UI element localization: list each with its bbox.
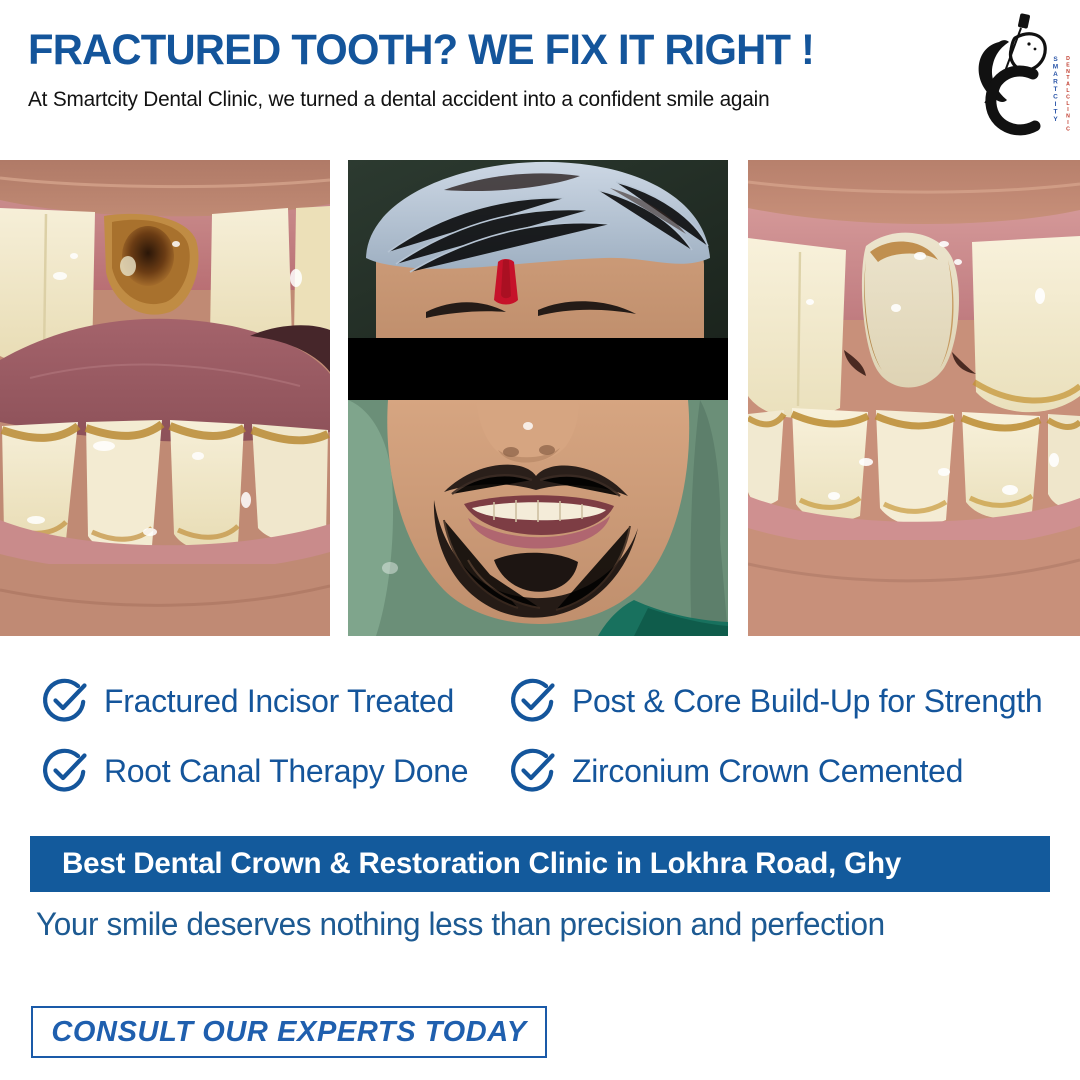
consult-cta-label: CONSULT OUR EXPERTS TODAY [51, 1016, 526, 1049]
logo-brand-subtext: DENTALCLINIC [1064, 56, 1071, 133]
checklist-item-label: Fractured Incisor Treated [104, 683, 454, 720]
treatment-checklist: Fractured Incisor Treated Root Canal The… [0, 660, 1080, 810]
checklist-item-label: Zirconium Crown Cemented [572, 753, 963, 790]
consult-cta-button[interactable]: CONSULT OUR EXPERTS TODAY [31, 1006, 547, 1058]
page-subtitle: At Smartcity Dental Clinic, we turned a … [28, 88, 769, 112]
photo-patient-portrait [348, 160, 728, 636]
location-banner: Best Dental Crown & Restoration Clinic i… [30, 836, 1050, 892]
check-circle-icon [40, 676, 90, 726]
logo-brand-text: SMARTCITY [1050, 56, 1059, 124]
clinic-logo: SMARTCITY DENTALCLINIC [963, 8, 1075, 140]
checklist-item-label: Root Canal Therapy Done [104, 753, 468, 790]
page-title: FRACTURED TOOTH? WE FIX IT RIGHT ! [28, 26, 814, 75]
check-circle-icon [508, 746, 558, 796]
checklist-item: Post & Core Build-Up for Strength [508, 676, 1042, 726]
photo-before-fractured-incisor [0, 160, 330, 636]
location-banner-text: Best Dental Crown & Restoration Clinic i… [62, 847, 901, 881]
after-photo-illustration [748, 160, 1080, 636]
case-photo-strip [0, 160, 1080, 636]
checklist-item: Zirconium Crown Cemented [508, 746, 963, 796]
checklist-item-label: Post & Core Build-Up for Strength [572, 683, 1042, 720]
before-photo-illustration [0, 160, 330, 636]
check-circle-icon [508, 676, 558, 726]
check-circle-icon [40, 746, 90, 796]
patient-portrait-illustration [348, 160, 728, 636]
header: FRACTURED TOOTH? WE FIX IT RIGHT ! At Sm… [0, 0, 1080, 160]
poster-root: FRACTURED TOOTH? WE FIX IT RIGHT ! At Sm… [0, 0, 1080, 1080]
tagline: Your smile deserves nothing less than pr… [36, 906, 1041, 943]
checklist-item: Root Canal Therapy Done [40, 746, 468, 796]
photo-after-crown [748, 160, 1080, 636]
checklist-item: Fractured Incisor Treated [40, 676, 454, 726]
